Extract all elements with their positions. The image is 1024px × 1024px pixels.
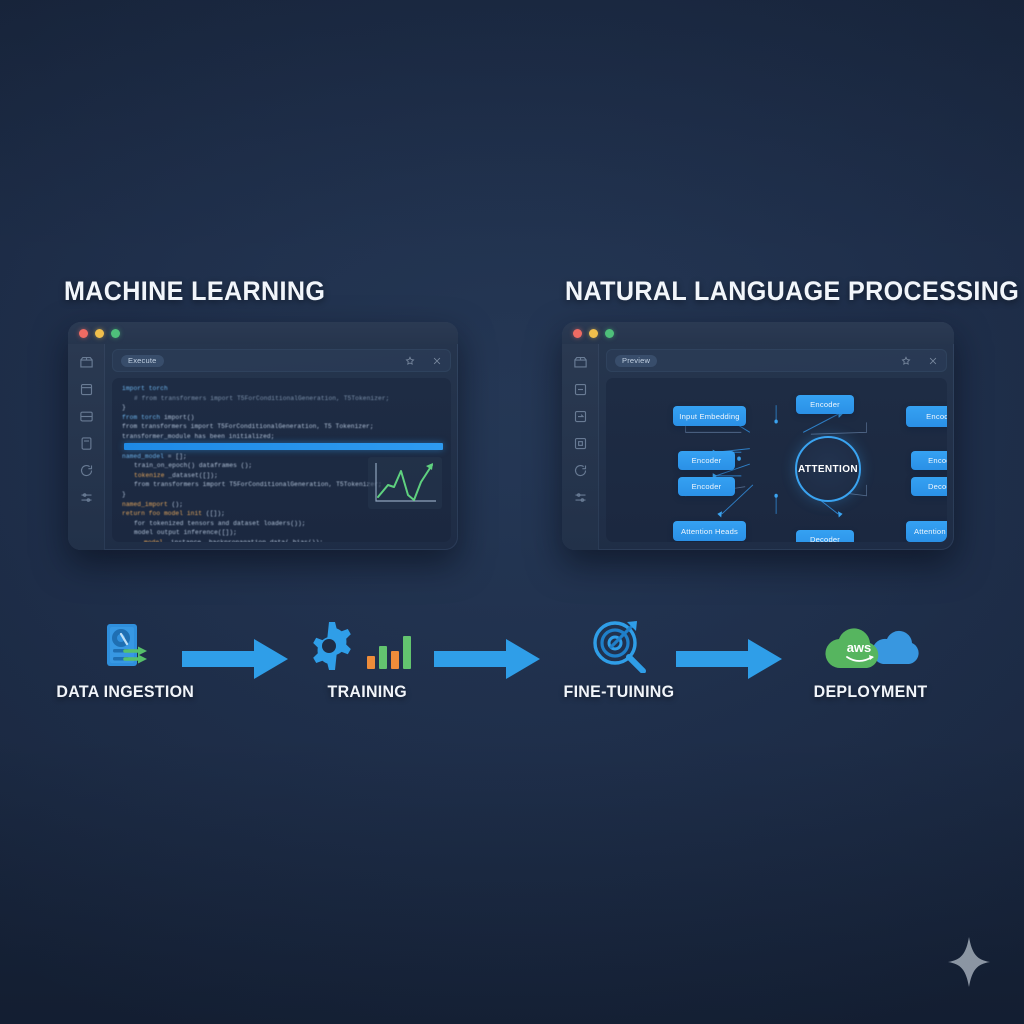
pipeline-step-training[interactable]: TRAINING bbox=[305, 618, 429, 702]
nlp-tab-label[interactable]: Preview bbox=[615, 355, 657, 367]
section-title-machine-learning: MACHINE LEARNING bbox=[64, 276, 325, 307]
diagram-node-label: Encoder bbox=[926, 412, 947, 421]
diagram-node-encoder-left[interactable]: Encoder bbox=[678, 451, 735, 470]
pipeline-step-data-ingestion[interactable]: DATA INGESTION bbox=[60, 618, 190, 702]
clipboard-icon[interactable] bbox=[79, 382, 94, 397]
diagram-node-label: Attention Heads bbox=[681, 527, 738, 536]
nlp-window: Preview bbox=[562, 322, 954, 550]
code-line: # from transformers import T5ForConditio… bbox=[122, 394, 443, 404]
pipeline-step-fine-tuning[interactable]: FINE-TUINING bbox=[556, 618, 682, 702]
pipeline-label-training: TRAINING bbox=[327, 682, 406, 702]
code-line: for tokenized tensors and dataset loader… bbox=[122, 519, 443, 529]
ml-sidebar bbox=[68, 344, 105, 550]
diagram-node-label: Decoder bbox=[810, 535, 840, 542]
sliders-icon[interactable] bbox=[573, 490, 588, 505]
pipeline-label-deployment: DEPLOYMENT bbox=[814, 682, 928, 702]
close-dot[interactable] bbox=[79, 329, 88, 338]
ml-tab-label[interactable]: Execute bbox=[121, 355, 164, 367]
diagram-node-encoder-top-right[interactable]: Encoder bbox=[906, 406, 947, 427]
arrow-box-icon[interactable] bbox=[573, 409, 588, 424]
code-editor[interactable]: import torch # from transformers import … bbox=[112, 378, 451, 542]
diagram-node-decoder-bottom[interactable]: Decoder bbox=[796, 530, 854, 542]
diagram-connectors bbox=[606, 378, 947, 542]
diagram-node-label: Encoder bbox=[692, 456, 722, 465]
sliders-icon[interactable] bbox=[79, 490, 94, 505]
diagram-node-decoder-right[interactable]: Decoder bbox=[911, 477, 947, 496]
code-line: return foo model init ([]); bbox=[122, 509, 443, 519]
poster-canvas: MACHINE LEARNING NATURAL LANGUAGE PROCES… bbox=[0, 0, 1024, 1024]
gear-bar-chart-icon bbox=[313, 618, 421, 674]
package-icon[interactable] bbox=[573, 355, 588, 370]
package-icon[interactable] bbox=[79, 355, 94, 370]
pipeline-label-fine-tuning: FINE-TUINING bbox=[564, 682, 675, 702]
minimize-dot[interactable] bbox=[95, 329, 104, 338]
minus-box-icon[interactable] bbox=[573, 382, 588, 397]
ml-titlebar bbox=[68, 322, 458, 344]
maximize-dot[interactable] bbox=[605, 329, 614, 338]
code-line: model output inference([]); bbox=[122, 528, 443, 538]
close-icon[interactable] bbox=[928, 356, 938, 366]
close-icon[interactable] bbox=[432, 356, 442, 366]
code-line: import torch bbox=[122, 384, 443, 394]
attention-hub-label: ATTENTION bbox=[798, 464, 858, 475]
diagram-node-label: Encoder bbox=[692, 482, 722, 491]
pipeline-label-data-ingestion: DATA INGESTION bbox=[56, 682, 194, 702]
close-dot[interactable] bbox=[573, 329, 582, 338]
layout-icon[interactable] bbox=[79, 409, 94, 424]
minimize-dot[interactable] bbox=[589, 329, 598, 338]
code-line: transformer_module has been initialized; bbox=[122, 432, 443, 442]
attention-architecture-diagram: ATTENTION Input EmbeddingEncoderEncoderE… bbox=[606, 378, 947, 542]
nlp-tabbar: Preview bbox=[606, 349, 947, 372]
pipeline-step-deployment[interactable]: aws DEPLOYMENT bbox=[808, 618, 934, 702]
code-highlight-line bbox=[124, 443, 443, 450]
code-line: model _instance, backpropagation data(_b… bbox=[122, 538, 443, 542]
attention-hub: ATTENTION bbox=[795, 436, 861, 502]
hard-drive-icon bbox=[97, 618, 153, 674]
diagram-node-encoder-right[interactable]: Encoder bbox=[911, 451, 947, 470]
machine-learning-window: Execute bbox=[68, 322, 458, 550]
target-magnifier-icon bbox=[589, 618, 649, 674]
code-line: from transformers import T5ForConditiona… bbox=[122, 422, 443, 432]
diagram-node-label: Encoder bbox=[928, 456, 947, 465]
diagram-node-encoder-left-2[interactable]: Encoder bbox=[678, 477, 735, 496]
refresh-icon[interactable] bbox=[79, 463, 94, 478]
nlp-titlebar bbox=[562, 322, 954, 344]
refresh-icon[interactable] bbox=[573, 463, 588, 478]
code-line: from torch import() bbox=[122, 413, 443, 423]
ml-tabbar: Execute bbox=[112, 349, 451, 372]
diagram-node-label: Encoder bbox=[810, 400, 840, 409]
diagram-node-label: Decoder bbox=[928, 482, 947, 491]
star-icon[interactable] bbox=[405, 356, 415, 366]
pipeline-arrow-2 bbox=[434, 636, 542, 687]
diagram-node-input-embedding[interactable]: Input Embedding bbox=[673, 406, 746, 426]
aws-cloud-icon: aws bbox=[815, 618, 927, 674]
sparkle-icon bbox=[946, 935, 992, 994]
diagram-node-attention-heads-left[interactable]: Attention Heads bbox=[673, 521, 746, 541]
diagram-node-attention-heads-right[interactable]: Attention Heads bbox=[906, 521, 947, 542]
svg-text:aws: aws bbox=[847, 640, 872, 655]
diagram-node-encoder-top[interactable]: Encoder bbox=[796, 395, 854, 414]
square-box-icon[interactable] bbox=[573, 436, 588, 451]
diagram-node-label: Attention Heads bbox=[914, 527, 947, 536]
inline-trend-chart bbox=[368, 457, 442, 509]
document-icon[interactable] bbox=[79, 436, 94, 451]
diagram-node-label: Input Embedding bbox=[679, 412, 739, 421]
star-icon[interactable] bbox=[901, 356, 911, 366]
nlp-sidebar bbox=[562, 344, 599, 550]
maximize-dot[interactable] bbox=[111, 329, 120, 338]
section-title-nlp: NATURAL LANGUAGE PROCESSING bbox=[565, 276, 1019, 307]
code-line: } bbox=[122, 403, 443, 413]
pipeline-arrow-1 bbox=[182, 636, 290, 687]
pipeline-arrow-3 bbox=[676, 636, 784, 687]
